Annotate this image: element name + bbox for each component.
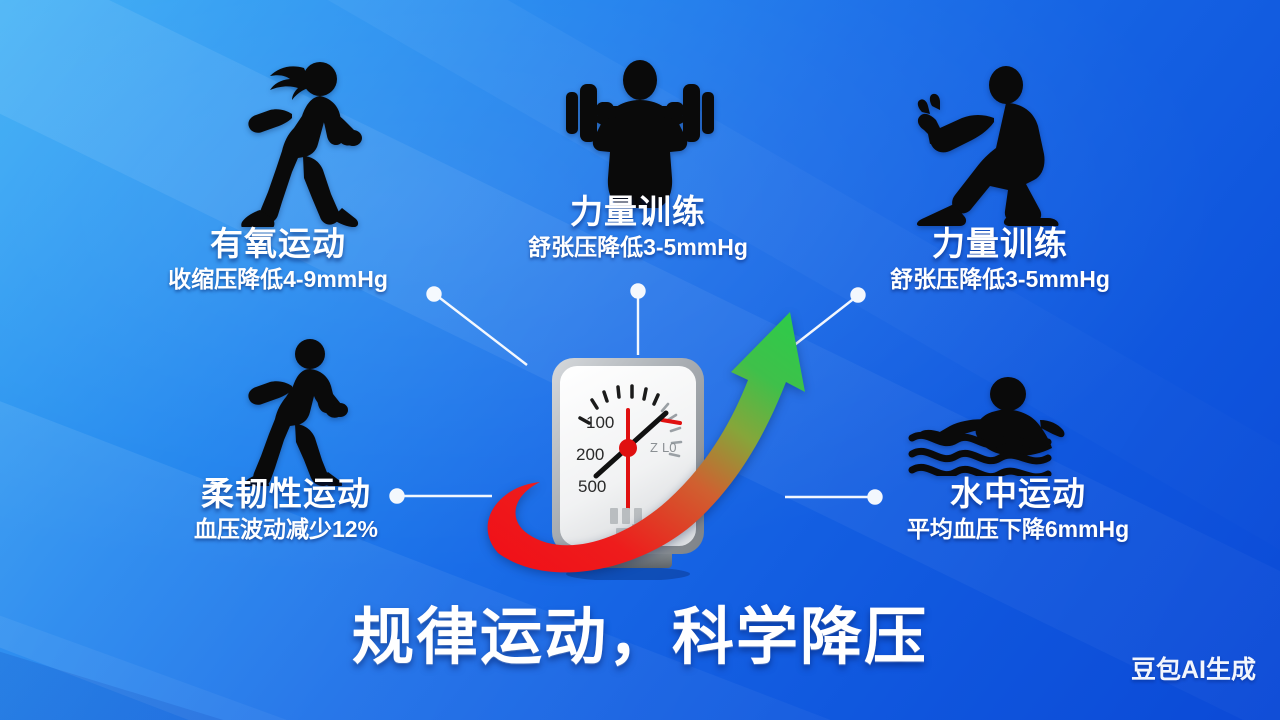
blood-pressure-gauge: 100 200 500 Z L0: [540, 350, 715, 580]
label-title: 力量训练: [478, 194, 798, 230]
swimmer-icon: [900, 376, 1070, 476]
label-title: 柔韧性运动: [126, 476, 446, 512]
female-runner-icon: [232, 52, 372, 227]
label-subtitle: 舒张压降低3-5mmHg: [478, 235, 798, 260]
label-strength-top: 力量训练 舒张压降低3-5mmHg: [478, 194, 798, 261]
male-runner-icon: [240, 336, 360, 486]
label-title: 有氧运动: [118, 226, 438, 262]
poster-canvas: 100 200 500 Z L0: [0, 0, 1280, 720]
svg-text:200: 200: [576, 445, 604, 464]
page-headline: 规律运动，科学降压: [0, 586, 1280, 676]
watermark-label: 豆包AI生成: [1131, 650, 1256, 686]
label-subtitle: 血压波动减少12%: [126, 517, 446, 542]
label-strength-right: 力量训练 舒张压降低3-5mmHg: [840, 226, 1160, 293]
label-subtitle: 平均血压下降6mmHg: [858, 517, 1178, 542]
svg-text:L0: L0: [662, 440, 676, 455]
svg-text:Z: Z: [650, 440, 658, 455]
label-flexibility: 柔韧性运动 血压波动减少12%: [126, 476, 446, 543]
taichi-icon: [898, 58, 1068, 228]
weightlifter-icon: [540, 58, 740, 208]
label-subtitle: 收缩压降低4-9mmHg: [118, 267, 438, 292]
label-title: 水中运动: [858, 476, 1178, 512]
label-subtitle: 舒张压降低3-5mmHg: [840, 267, 1160, 292]
label-aerobic: 有氧运动 收缩压降低4-9mmHg: [118, 226, 438, 293]
label-aquatic: 水中运动 平均血压下降6mmHg: [858, 476, 1178, 543]
svg-text:500: 500: [578, 477, 606, 496]
label-title: 力量训练: [840, 226, 1160, 262]
